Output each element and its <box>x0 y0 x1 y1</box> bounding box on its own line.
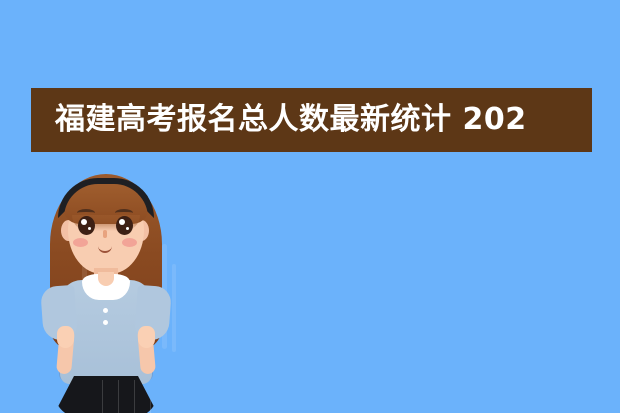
eye-left <box>78 216 95 235</box>
blush-left <box>73 238 88 247</box>
eye-right <box>116 216 133 235</box>
skirt-pleat <box>102 380 103 413</box>
shirt-button <box>103 308 108 313</box>
page-title: 福建高考报名总人数最新统计 202 <box>31 105 527 135</box>
blush-right <box>122 238 137 247</box>
eye-highlight <box>81 219 87 225</box>
eye-highlight <box>88 227 91 230</box>
eye-highlight <box>126 227 129 230</box>
hair-strand <box>172 264 176 352</box>
skirt-pleat <box>118 380 119 413</box>
title-banner: 福建高考报名总人数最新统计 202 <box>31 88 592 152</box>
hand-right <box>138 326 155 348</box>
shirt-collar <box>82 274 130 300</box>
hand-left <box>57 326 74 348</box>
page-background: 福建高考报名总人数最新统计 202 <box>0 0 620 413</box>
skirt-pleat <box>150 380 151 413</box>
skirt-pleat <box>134 380 135 413</box>
nose <box>103 230 107 238</box>
eye-highlight <box>119 219 125 225</box>
headband-icon <box>58 178 154 218</box>
shirt-button <box>103 320 108 325</box>
schoolgirl-illustration <box>26 168 186 413</box>
